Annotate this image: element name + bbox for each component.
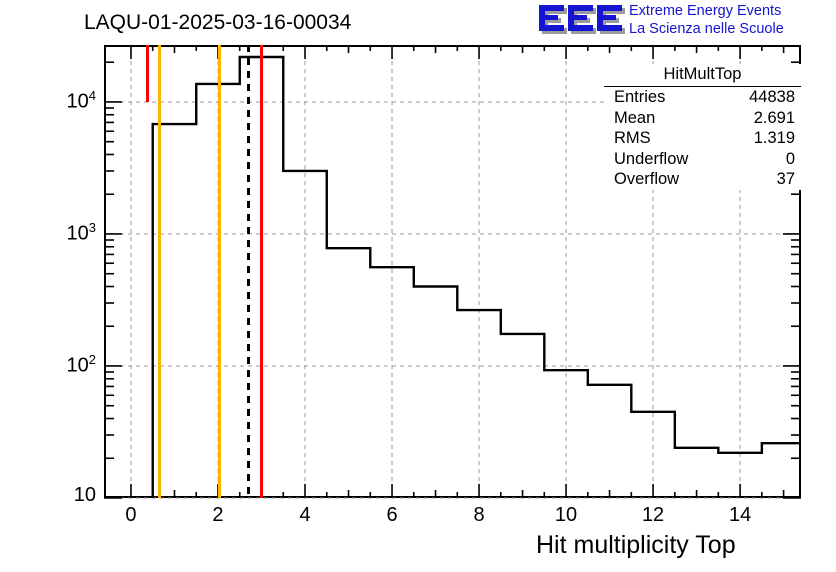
root-canvas: LAQU-01-2025-03-16-00034 Extreme Ene — [0, 0, 836, 572]
x-axis-title: Hit multiplicity Top — [536, 531, 736, 560]
stats-row-value: 37 — [777, 169, 795, 190]
stats-row-value: 1.319 — [754, 128, 795, 149]
y-axis-label-1000: 103 — [30, 220, 96, 246]
stats-row-label: Underflow — [614, 149, 688, 170]
x-axis-label-4: 4 — [280, 504, 330, 527]
cut-high-orange — [218, 45, 221, 498]
stats-row: Overflow 37 — [604, 169, 801, 190]
stats-row: Underflow 0 — [604, 149, 801, 170]
eee-logo-mark — [537, 3, 627, 39]
stats-rows: Entries 44838 Mean 2.691 RMS 1.319 Under… — [604, 87, 801, 190]
stats-row: Entries 44838 — [604, 87, 801, 108]
stats-row: Mean 2.691 — [604, 108, 801, 129]
y-axis-label-100: 102 — [30, 352, 96, 378]
mean-dashed — [247, 45, 250, 498]
x-axis-label-6: 6 — [367, 504, 417, 527]
x-axis-label-12: 12 — [628, 504, 678, 527]
page-title: LAQU-01-2025-03-16-00034 — [84, 11, 351, 35]
stats-row-label: RMS — [614, 128, 651, 149]
y-axis-label-10000: 104 — [30, 88, 96, 114]
stats-row-label: Overflow — [614, 169, 679, 190]
stats-row-value: 0 — [786, 149, 795, 170]
cut-high-red — [260, 45, 263, 498]
eee-logo-line1: Extreme Energy Events — [629, 2, 784, 20]
stats-row: RMS 1.319 — [604, 128, 801, 149]
stats-row-label: Entries — [614, 87, 665, 108]
x-axis-label-14: 14 — [715, 504, 765, 527]
cut-low-orange — [158, 45, 161, 498]
stats-row-value: 2.691 — [754, 108, 795, 129]
stats-row-label: Mean — [614, 108, 655, 129]
eee-logo-line2: La Scienza nelle Scuole — [629, 20, 784, 38]
eee-logo-text: Extreme Energy Events La Scienza nelle S… — [629, 2, 784, 38]
x-axis-label-2: 2 — [193, 504, 243, 527]
x-axis-label-10: 10 — [541, 504, 591, 527]
cut-low-red — [146, 45, 149, 102]
x-axis-label-0: 0 — [106, 504, 156, 527]
eee-logo: Extreme Energy Events La Scienza nelle S… — [537, 2, 835, 42]
stats-row-value: 44838 — [749, 87, 795, 108]
stats-box-title: HitMultTop — [604, 64, 801, 87]
y-axis-label-10: 10 — [30, 484, 96, 507]
x-axis-label-8: 8 — [454, 504, 504, 527]
stats-box[interactable]: HitMultTop Entries 44838 Mean 2.691 RMS … — [604, 64, 801, 190]
